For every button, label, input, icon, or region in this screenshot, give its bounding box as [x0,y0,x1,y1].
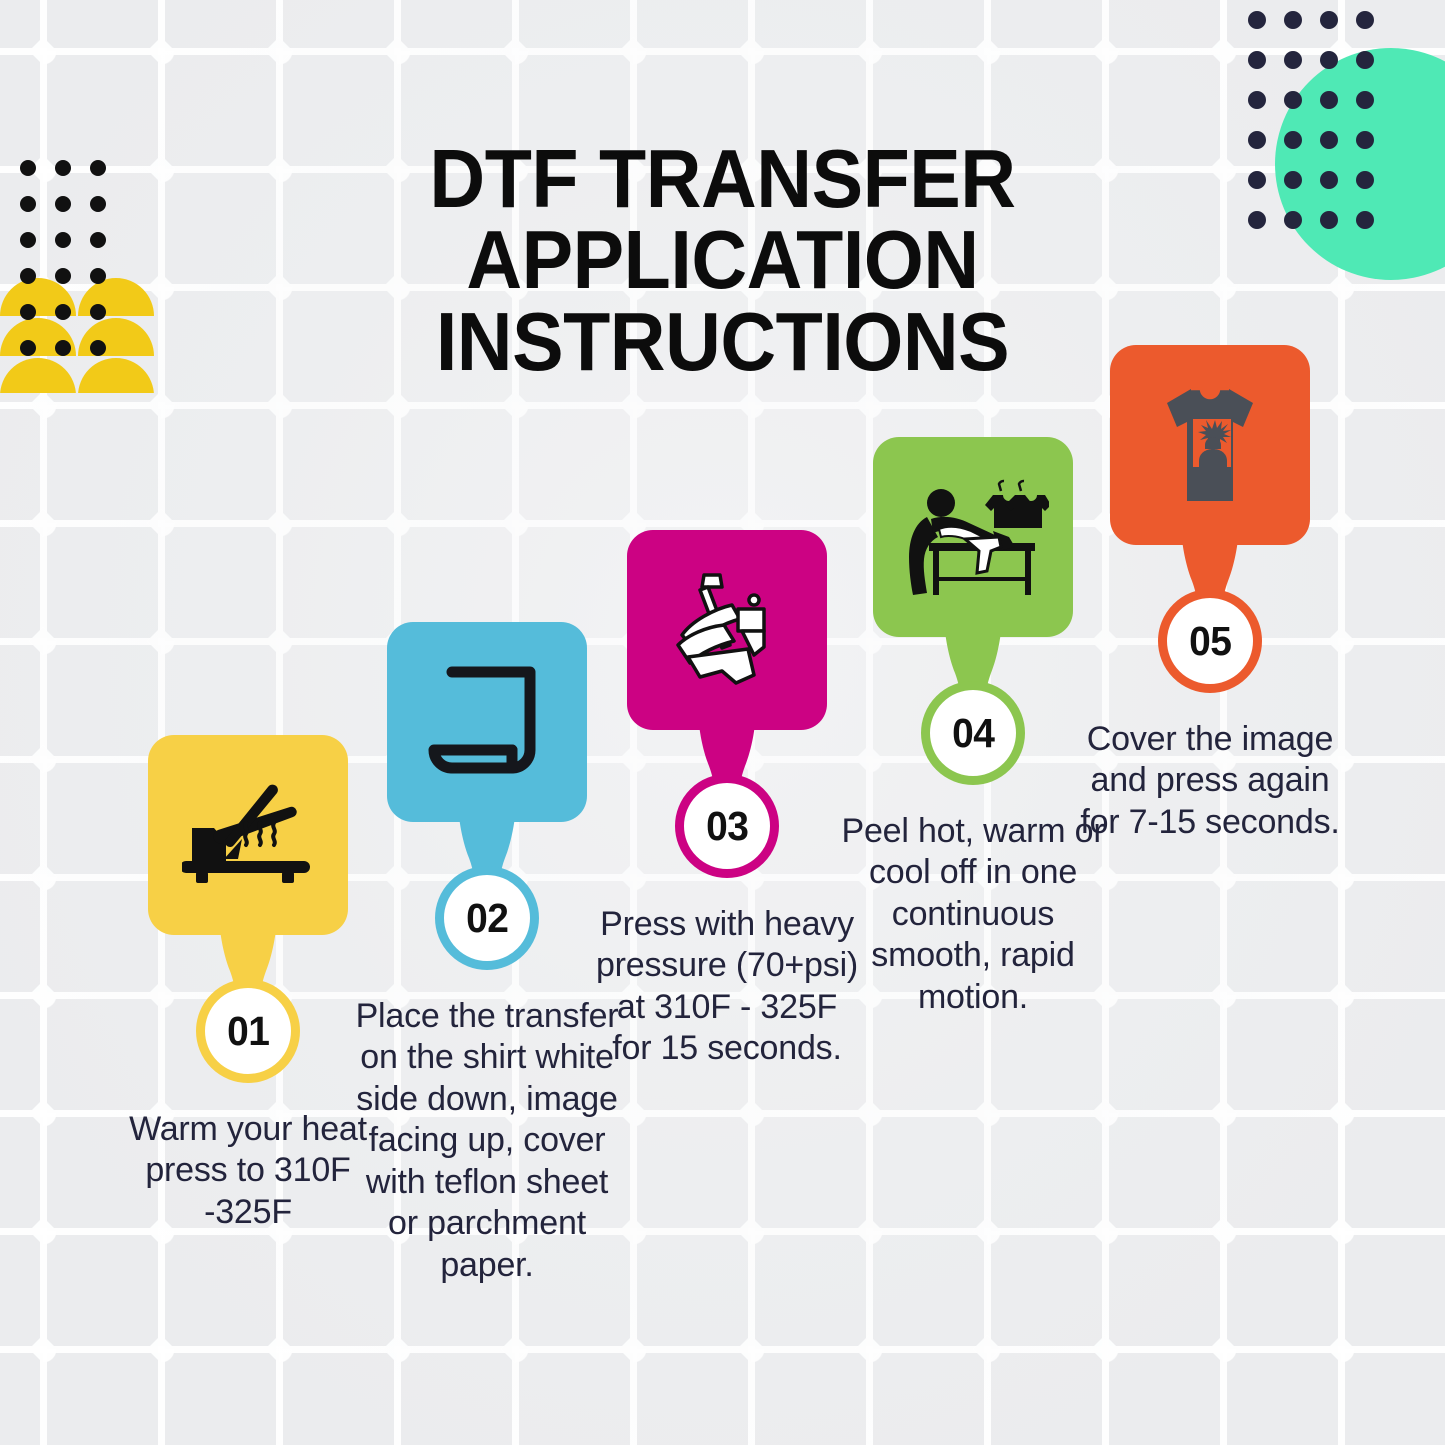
step-05[interactable]: 05 Cover the image and press again for 7… [1075,345,1345,843]
step-04-pin: 04 [873,437,1073,785]
step-04-caption: Peel hot, warm or cool off in one contin… [839,811,1107,1018]
page-title: DTF TRANSFER APPLICATION INSTRUCTIONS [190,138,1255,382]
step-03[interactable]: 03 Press with heavy pressure (70+psi) at… [592,530,862,1070]
step-05-pin: 05 [1110,345,1310,693]
step-02-tile [387,622,587,822]
page-title-wrap: DTF TRANSFER APPLICATION INSTRUCTIONS [0,138,1445,382]
step-03-pin: 03 [627,530,827,878]
transfer-sheet-icon [428,664,546,780]
step-02-pin: 02 [387,622,587,970]
step-03-tile [627,530,827,730]
step-01-tile [148,735,348,935]
step-04-number-badge: 04 [921,681,1025,785]
step-01[interactable]: 01 Warm your heat press to 310F -325F [113,735,383,1233]
printed-tshirt-icon [1147,383,1273,507]
step-05-number: 05 [1189,618,1231,665]
step-01-caption: Warm your heat press to 310F -325F [114,1109,382,1233]
person-peeling-transfer-icon [897,473,1049,601]
heat-press-icon [182,783,314,887]
step-02-number-badge: 02 [435,866,539,970]
step-01-pin: 01 [148,735,348,1083]
step-02-number: 02 [466,895,508,942]
step-04-tile [873,437,1073,637]
step-03-number-badge: 03 [675,774,779,878]
heat-press-machine-icon [662,565,792,695]
step-05-caption: Cover the image and press again for 7-15… [1076,719,1344,843]
step-02[interactable]: 02 Place the transfer on the shirt white… [352,622,622,1286]
step-01-number: 01 [227,1008,269,1055]
step-03-number: 03 [706,803,748,850]
step-01-number-badge: 01 [196,979,300,1083]
step-02-caption: Place the transfer on the shirt white si… [353,996,621,1286]
step-05-number-badge: 05 [1158,589,1262,693]
step-03-caption: Press with heavy pressure (70+psi) at 31… [593,904,861,1070]
step-04-number: 04 [952,710,994,757]
step-04[interactable]: 04 Peel hot, warm or cool off in one con… [838,437,1108,1018]
